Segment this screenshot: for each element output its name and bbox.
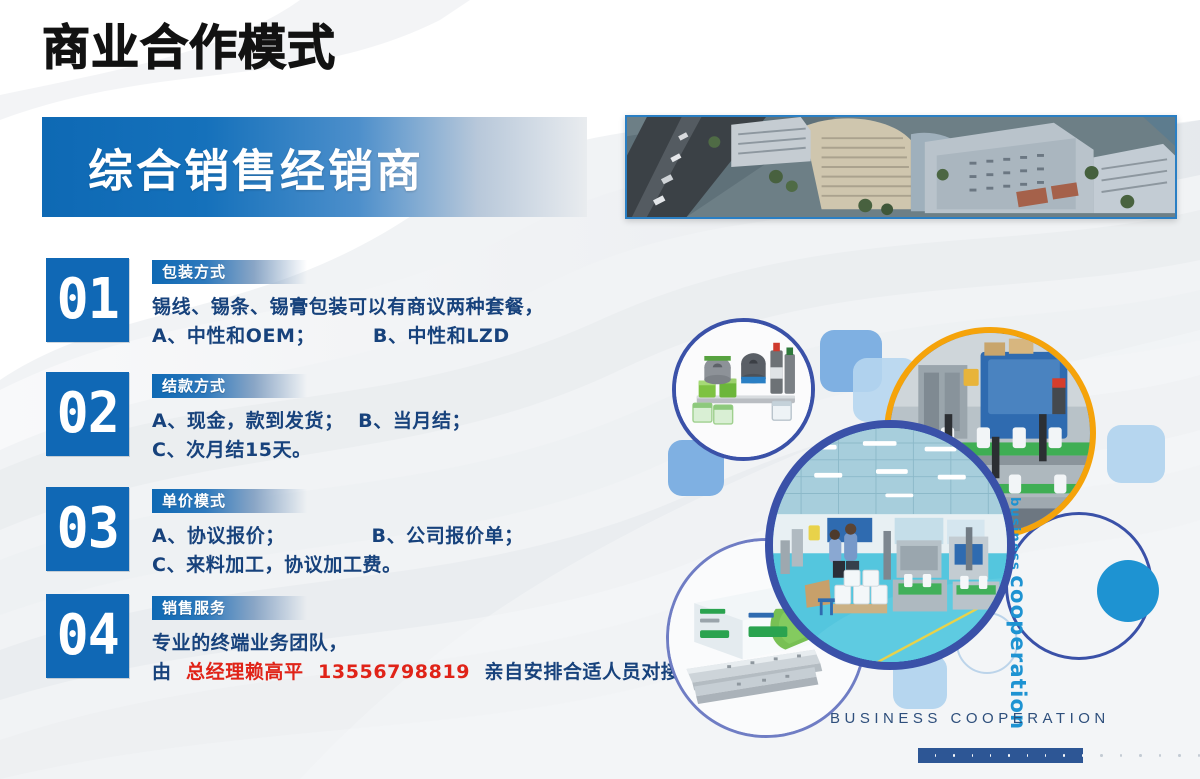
list-item: 04 销售服务 专业的终端业务团队， 由 总经理赖高平 13556798819 … (46, 594, 700, 688)
item-label: 单价模式 (152, 489, 307, 513)
footer-caption: BUSINESS COOPERATION (830, 710, 1110, 727)
footer-dots (918, 748, 1083, 763)
faint-circle-decor (956, 612, 1018, 674)
rounded-square-decor (893, 655, 947, 709)
banner-bar: 综合销售经销商 (42, 117, 587, 217)
footer-dot (1120, 754, 1123, 757)
footer-dot (1100, 754, 1103, 757)
footer-dot (1008, 754, 1009, 757)
item-content: 包装方式 锡线、锡条、锡膏包装可以有商议两种套餐， A、中性和OEM； B、中性… (152, 258, 544, 352)
item-line: A、现金，款到发货； B、当月结； (152, 407, 471, 436)
item-line: A、协议报价； B、公司报价单； (152, 522, 524, 551)
footer-dots-faded (1083, 748, 1200, 763)
list-item: 03 单价模式 A、协议报价； B、公司报价单； C、来料加工，协议加工费。 (46, 487, 524, 581)
production-line-photo (884, 327, 1096, 539)
footer-dot (935, 754, 936, 757)
vertical-caption-small: business (1007, 497, 1022, 571)
item-number: 01 (56, 272, 118, 328)
solid-dot-decor (1097, 560, 1159, 622)
building-photo-icon (627, 117, 1175, 217)
item-label: 包装方式 (152, 260, 307, 284)
footer-dot (1027, 754, 1028, 757)
footer-dot (953, 754, 954, 757)
outline-circle-decor (1005, 512, 1153, 660)
item-number-badge: 02 (46, 372, 129, 456)
item-lines: A、现金，款到发货； B、当月结； C、次月结15天。 (152, 407, 471, 466)
footer-dot (972, 754, 973, 757)
list-item: 02 结款方式 A、现金，款到发货； B、当月结； C、次月结15天。 (46, 372, 471, 466)
item-content: 结款方式 A、现金，款到发货； B、当月结； C、次月结15天。 (152, 372, 471, 466)
footer-dot-bar (918, 748, 1083, 763)
footer-dot (1159, 754, 1162, 757)
item-number: 03 (56, 501, 118, 557)
item-lines: 锡线、锡条、锡膏包装可以有商议两种套餐， A、中性和OEM； B、中性和LZD (152, 293, 544, 352)
item-line: A、中性和OEM； B、中性和LZD (152, 322, 544, 351)
item-number-badge: 01 (46, 258, 129, 342)
item-line: C、来料加工，协议加工费。 (152, 551, 524, 580)
production-line-photo-icon (890, 333, 1090, 533)
item-number: 02 (56, 386, 118, 442)
banner-title: 综合销售经销商 (88, 135, 424, 200)
footer-dot (1178, 754, 1181, 757)
item-label: 结款方式 (152, 374, 307, 398)
item-line-contact: 由 总经理赖高平 13556798819 亲自安排合适人员对接。 (152, 658, 700, 687)
rounded-square-decor (668, 440, 724, 496)
vertical-caption-big: cooperation (1006, 575, 1030, 730)
item-line: C、次月结15天。 (152, 436, 471, 465)
footer-dot (1139, 754, 1142, 757)
aerial-campus-photo (625, 115, 1177, 219)
item-label: 销售服务 (152, 596, 307, 620)
footer-dot (1063, 754, 1064, 757)
item-line: 锡线、锡条、锡膏包装可以有商议两种套餐， (152, 293, 544, 322)
contact-suffix: 亲自安排合适人员对接。 (470, 661, 700, 683)
rounded-square-decor (820, 330, 882, 392)
product-jars-photo (672, 318, 815, 461)
contact-prefix: 由 (152, 661, 186, 683)
poster-canvas: 商业合作模式 综合销售经销商 (0, 0, 1200, 779)
rounded-square-decor (1107, 425, 1165, 483)
workshop-photo-icon (773, 428, 1007, 662)
item-content: 销售服务 专业的终端业务团队， 由 总经理赖高平 13556798819 亲自安… (152, 594, 700, 688)
item-content: 单价模式 A、协议报价； B、公司报价单； C、来料加工，协议加工费。 (152, 487, 524, 581)
rounded-square-decor (853, 358, 917, 422)
page-title: 商业合作模式 (42, 24, 336, 72)
contact-highlight: 总经理赖高平 13556798819 (186, 661, 470, 683)
item-number-badge: 04 (46, 594, 129, 678)
footer-dot (990, 754, 991, 757)
solder-jars-photo-icon (676, 322, 811, 457)
item-lines: A、协议报价； B、公司报价单； C、来料加工，协议加工费。 (152, 522, 524, 581)
item-number-badge: 03 (46, 487, 129, 571)
footer-dot-bar-extension (1083, 748, 1200, 763)
item-number: 04 (56, 608, 118, 664)
item-line: 专业的终端业务团队， (152, 629, 700, 658)
vertical-caption: business cooperation (1006, 497, 1030, 730)
footer-dot (1045, 754, 1046, 757)
item-lines: 专业的终端业务团队， 由 总经理赖高平 13556798819 亲自安排合适人员… (152, 629, 700, 688)
list-item: 01 包装方式 锡线、锡条、锡膏包装可以有商议两种套餐， A、中性和OEM； B… (46, 258, 544, 352)
factory-workshop-photo (765, 420, 1015, 670)
